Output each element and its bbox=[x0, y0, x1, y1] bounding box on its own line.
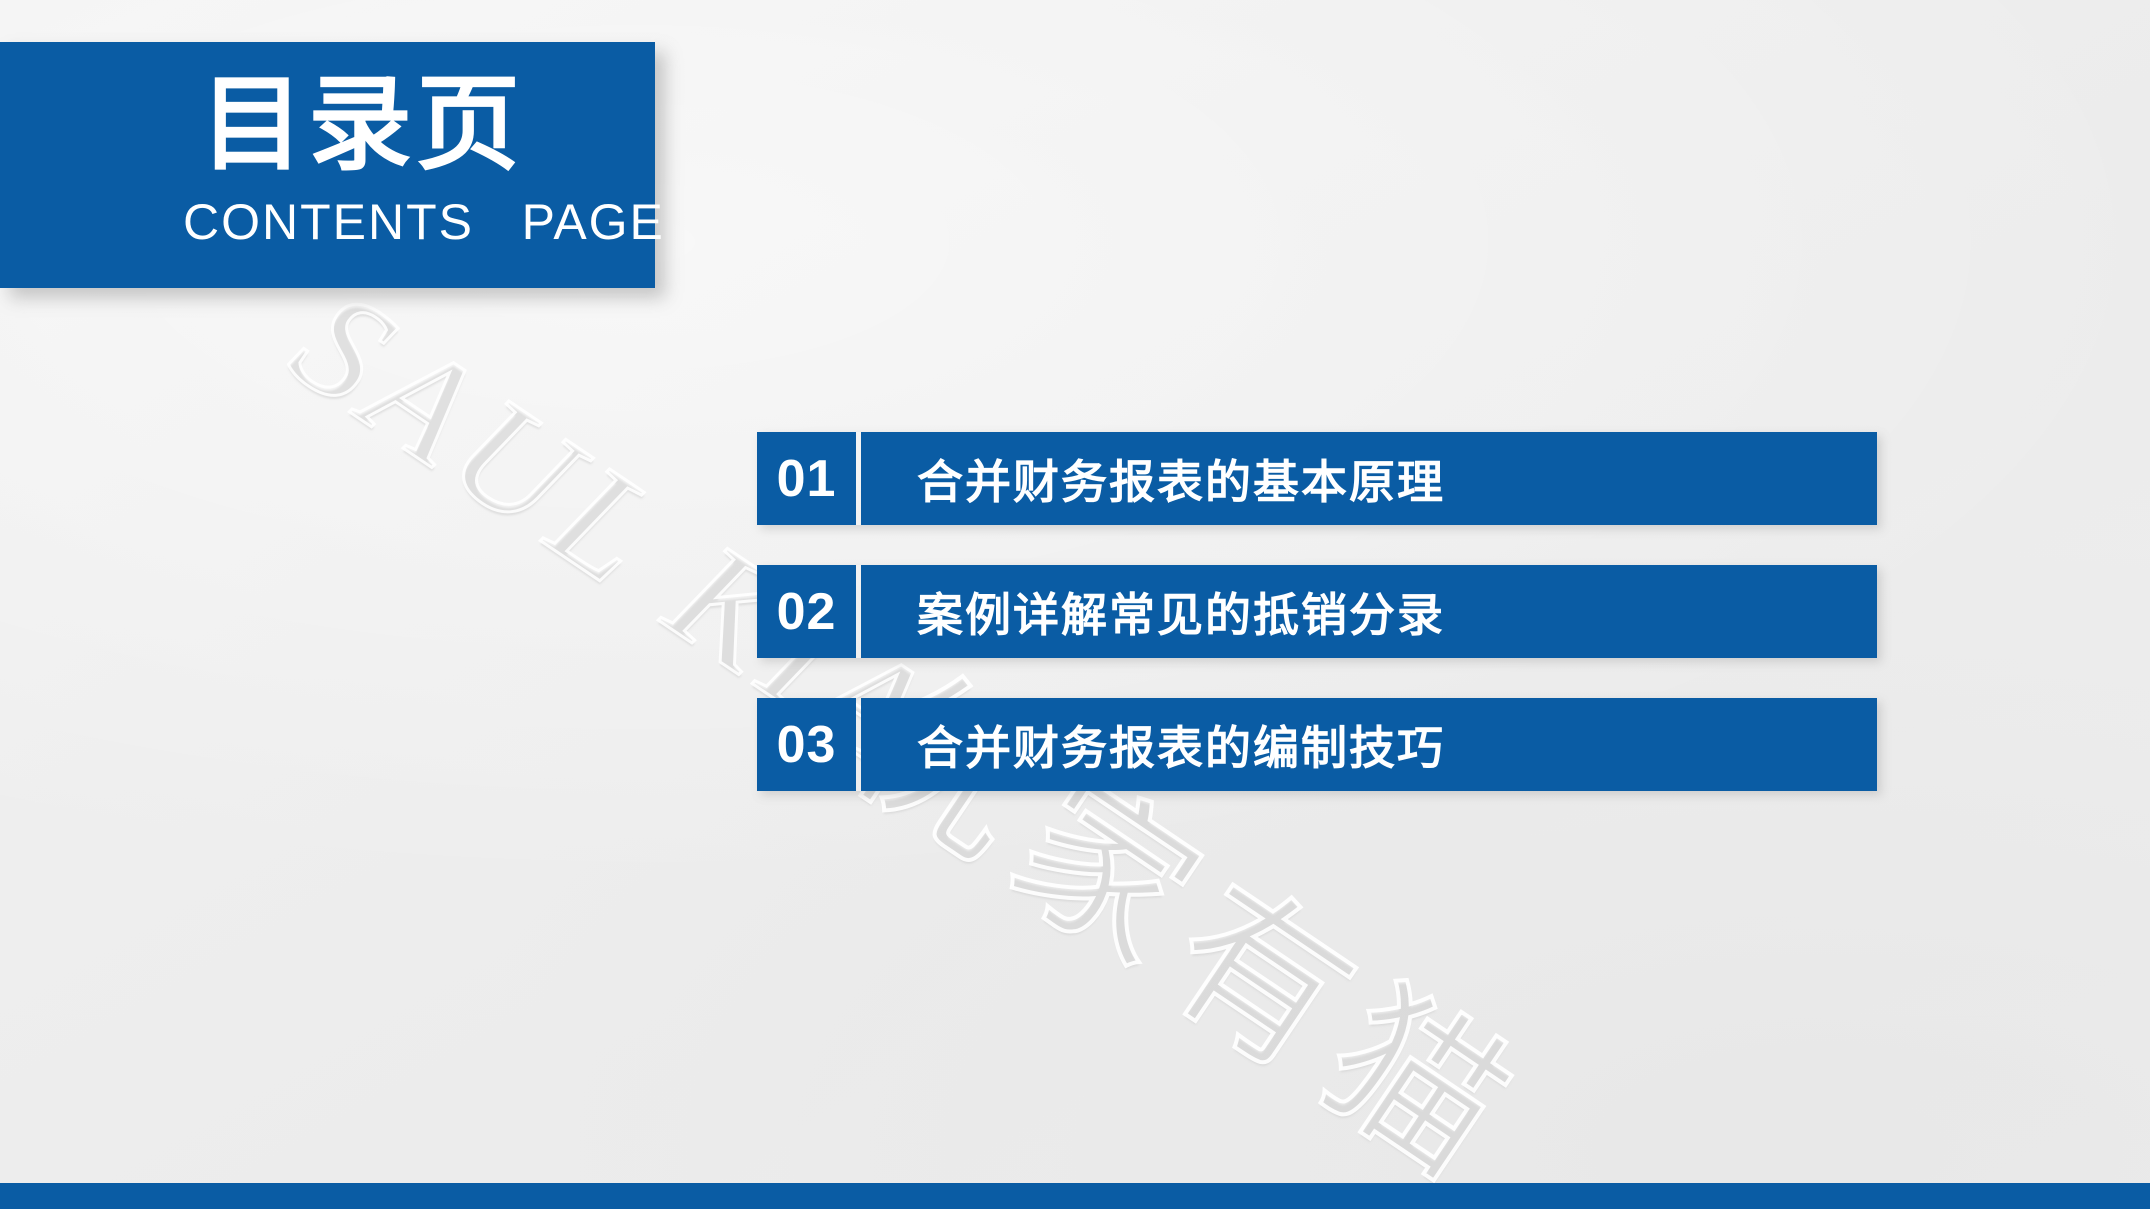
contents-list: 01 合并财务报表的基本原理 02 案例详解常见的抵销分录 03 合并财务报表的… bbox=[757, 432, 1877, 791]
footer-accent-bar bbox=[0, 1183, 2150, 1209]
contents-item-number: 01 bbox=[757, 432, 856, 525]
page-subtitle: CONTENTS PAGE bbox=[183, 197, 665, 247]
contents-item-number: 02 bbox=[757, 565, 856, 658]
contents-item-03[interactable]: 03 合并财务报表的编制技巧 bbox=[757, 698, 1877, 791]
page-title: 目录页 bbox=[200, 72, 524, 176]
contents-item-label: 合并财务报表的编制技巧 bbox=[861, 698, 1877, 791]
contents-item-01[interactable]: 01 合并财务报表的基本原理 bbox=[757, 432, 1877, 525]
contents-item-label: 合并财务报表的基本原理 bbox=[861, 432, 1877, 525]
contents-item-number: 03 bbox=[757, 698, 856, 791]
slide-canvas: SAUL KIA 优家有猫 目录页 CONTENTS PAGE 01 合并财务报… bbox=[0, 0, 2150, 1209]
header-block: 目录页 CONTENTS PAGE bbox=[0, 42, 655, 288]
contents-item-02[interactable]: 02 案例详解常见的抵销分录 bbox=[757, 565, 1877, 658]
contents-item-label: 案例详解常见的抵销分录 bbox=[861, 565, 1877, 658]
